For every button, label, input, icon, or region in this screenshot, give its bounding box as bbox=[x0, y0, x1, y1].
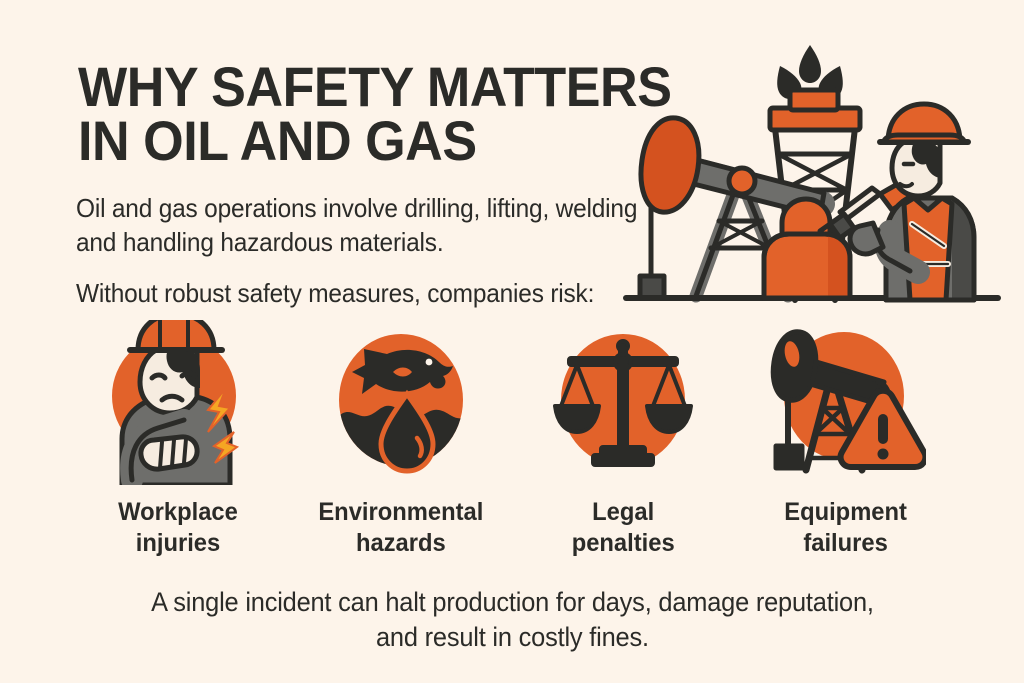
risk-label-line-2: penalties bbox=[572, 528, 675, 559]
risk-label-line-2: hazards bbox=[318, 528, 483, 559]
injured-worker-icon bbox=[98, 320, 258, 485]
intro-paragraph-2: Without robust safety measures, companie… bbox=[76, 276, 640, 310]
fish-oil-spill-icon bbox=[321, 320, 481, 485]
footer-inner: A single incident can halt production fo… bbox=[151, 585, 874, 655]
risk-item-environmental-hazards[interactable]: Environmental hazards bbox=[295, 320, 507, 558]
risk-label-line-1: Workplace bbox=[118, 498, 238, 526]
footer-statement: A single incident can halt production fo… bbox=[0, 585, 1024, 655]
oilfield-worker-illustration bbox=[612, 18, 1012, 318]
risk-label-line-2: failures bbox=[785, 528, 908, 559]
risk-label-line-2: injuries bbox=[118, 528, 238, 559]
risk-label-line-1: Environmental bbox=[318, 498, 483, 526]
scales-of-justice-icon bbox=[543, 320, 703, 485]
risk-icon-row: Workplace injuries bbox=[72, 320, 952, 570]
footer-line-1: A single incident can halt production fo… bbox=[151, 587, 874, 617]
risk-label-equipment-failures: Equipment failures bbox=[785, 497, 908, 558]
risk-label-workplace-injuries: Workplace injuries bbox=[118, 497, 238, 558]
risk-item-equipment-failures[interactable]: Equipment failures bbox=[740, 320, 952, 558]
risk-item-legal-penalties[interactable]: Legal penalties bbox=[517, 320, 729, 558]
pumpjack-warning-icon bbox=[766, 320, 926, 485]
risk-label-line-1: Equipment bbox=[785, 498, 908, 526]
risk-label-line-1: Legal bbox=[592, 498, 654, 526]
footer-line-2: and result in costly fines. bbox=[151, 620, 874, 655]
risk-label-environmental-hazards: Environmental hazards bbox=[318, 497, 483, 558]
storage-tank bbox=[764, 199, 850, 298]
intro-paragraph-1: Oil and gas operations involve drilling,… bbox=[76, 191, 649, 260]
risk-label-legal-penalties: Legal penalties bbox=[572, 497, 675, 558]
infographic-canvas: WHY SAFETY MATTERS IN OIL AND GAS Oil an… bbox=[0, 0, 1024, 683]
risk-item-workplace-injuries[interactable]: Workplace injuries bbox=[72, 320, 284, 558]
